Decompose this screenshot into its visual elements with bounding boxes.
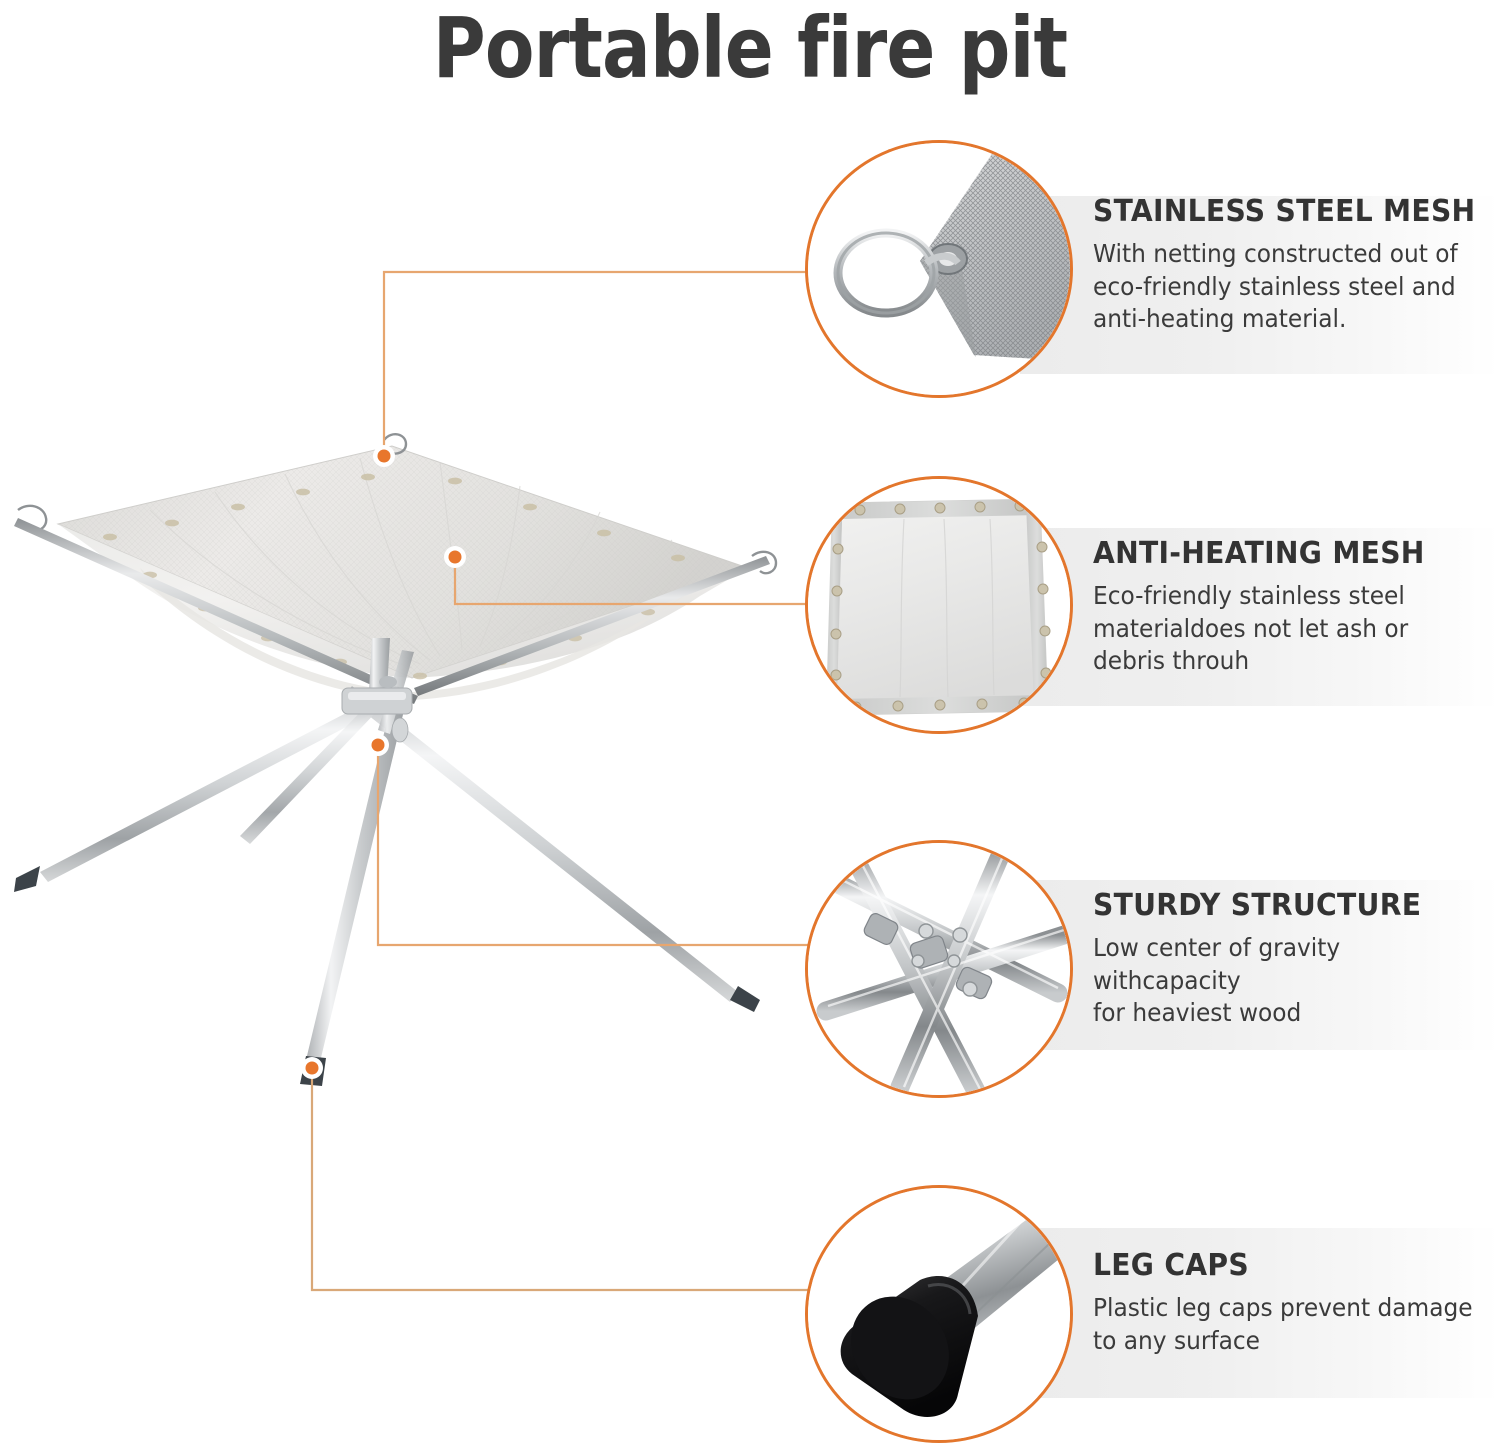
callout-anti-heating-mesh[interactable] [805,476,1073,734]
feature-body-stainless-steel-mesh: With netting constructed out of eco-frie… [1093,238,1483,336]
mesh-corner-with-split-ring-photo [808,143,1070,395]
black-plastic-leg-cap-photo [808,1188,1070,1440]
feature-body-sturdy-structure: Low center of gravity withcapacity for h… [1093,932,1483,1030]
product-illustration [0,400,800,1140]
feature-text-stainless-steel-mesh: STAINLESS STEEL MESH With netting constr… [1093,194,1500,336]
flat-mesh-sheet-with-grommets-photo [808,479,1070,731]
feature-title-leg-caps: LEG CAPS [1093,1248,1478,1283]
feature-text-anti-heating-mesh: ANTI-HEATING MESH Eco-friendly stainless… [1093,536,1500,678]
feature-title-sturdy-structure: STURDY STRUCTURE [1093,888,1478,923]
crossed-steel-tube-hub-photo [808,843,1070,1095]
feature-text-sturdy-structure: STURDY STRUCTURE Low center of gravity w… [1093,888,1500,1030]
feature-text-leg-caps: LEG CAPS Plastic leg caps prevent damage… [1093,1248,1500,1357]
callout-sturdy-structure[interactable] [805,840,1073,1098]
callout-stainless-steel-mesh[interactable] [805,140,1073,398]
callout-leg-caps[interactable] [805,1185,1073,1443]
page-title: Portable fire pit [105,0,1395,96]
feature-body-anti-heating-mesh: Eco-friendly stainless steel materialdoe… [1093,580,1483,678]
feature-title-anti-heating-mesh: ANTI-HEATING MESH [1093,536,1478,571]
feature-body-leg-caps: Plastic leg caps prevent damage to any s… [1093,1292,1483,1357]
leg-caps [14,866,760,1086]
feature-title-stainless-steel-mesh: STAINLESS STEEL MESH [1093,194,1478,229]
